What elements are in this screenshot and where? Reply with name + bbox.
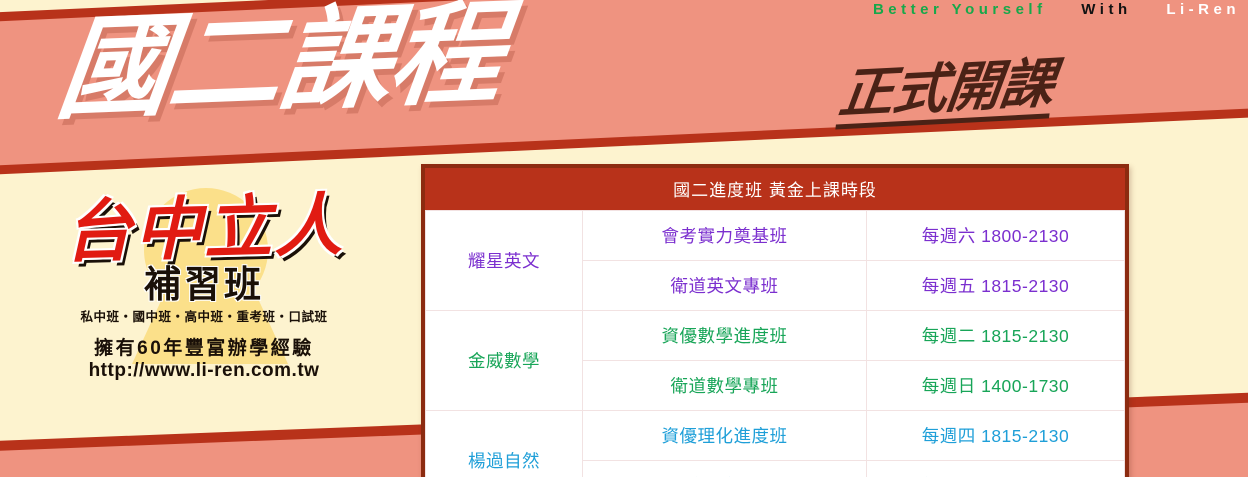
table-row: 耀星英文 會考實力奠基班 每週六 1800-2130: [426, 211, 1125, 261]
tagline: Better Yourself With Li-Ren: [873, 1, 1240, 18]
time-cell: 每週日 0900-1230: [867, 461, 1125, 477]
logo-website-url[interactable]: http://www.li-ren.com.tw: [24, 360, 384, 382]
logo-main-title: 台中立人: [23, 191, 385, 268]
subject-cell: 楊過自然: [426, 411, 583, 477]
course-cell: 會考實力奠基班: [583, 211, 867, 261]
course-cell: 衛道數學專班: [583, 361, 867, 411]
table-row: 金威數學 資優數學進度班 每週二 1815-2130: [426, 311, 1125, 361]
subject-cell: 耀星英文: [426, 211, 583, 311]
schedule-table-header: 國二進度班 黃金上課時段: [425, 168, 1125, 210]
logo-class-list: 私中班・國中班・高中班・重考班・口試班: [24, 306, 384, 325]
course-cell: 資優數學進度班: [583, 311, 867, 361]
tagline-part-3: Li-Ren: [1166, 1, 1240, 18]
time-cell: 每週日 1400-1730: [867, 361, 1125, 411]
promo-banner: Better Yourself With Li-Ren 國二課程 正式開課 台中…: [0, 0, 1248, 477]
course-cell: 衛道自然專班: [583, 461, 867, 477]
subheadline: 正式開課: [835, 56, 1056, 129]
logo-block: 台中立人 補習班 私中班・國中班・高中班・重考班・口試班 擁有60年豐富辦學經驗…: [24, 196, 384, 382]
time-cell: 每週六 1800-2130: [867, 211, 1125, 261]
time-cell: 每週五 1815-2130: [867, 261, 1125, 311]
course-cell: 衛道英文專班: [583, 261, 867, 311]
schedule-table-frame: 國二進度班 黃金上課時段 耀星英文 會考實力奠基班 每週六 1800-2130 …: [421, 164, 1129, 477]
logo-experience-text: 擁有60年豐富辦學經驗: [24, 338, 384, 360]
tagline-part-1: Better Yourself: [873, 1, 1047, 18]
headline: 國二課程: [52, 0, 508, 126]
course-cell: 資優理化進度班: [583, 411, 867, 461]
schedule-table: 耀星英文 會考實力奠基班 每週六 1800-2130 衛道英文專班 每週五 18…: [425, 210, 1125, 477]
subject-cell: 金威數學: [426, 311, 583, 411]
time-cell: 每週二 1815-2130: [867, 311, 1125, 361]
tagline-part-2: With: [1081, 1, 1131, 18]
time-cell: 每週四 1815-2130: [867, 411, 1125, 461]
table-row: 楊過自然 資優理化進度班 每週四 1815-2130: [426, 411, 1125, 461]
